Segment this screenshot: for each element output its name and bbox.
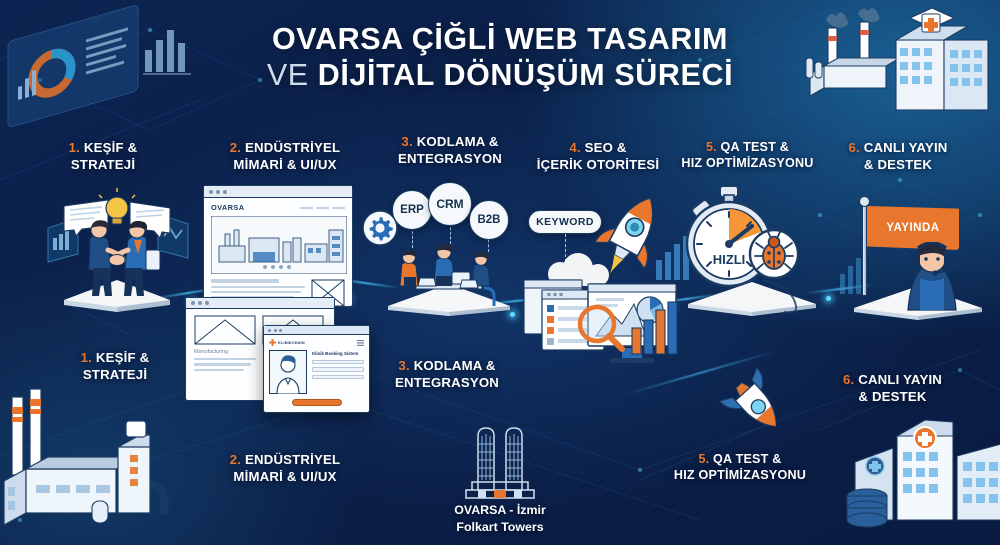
hamburger-menu-icon[interactable] [357,340,364,346]
step-text-line1: QA TEST & [721,140,790,154]
step-number: 3. [398,358,409,373]
doctor-avatar-icon [269,350,307,394]
step-text-line1: ENDÜSTRİYEL [245,452,340,467]
badge-keyword: KEYWORD [528,210,602,234]
infographic-canvas: OVARSA ÇİĞLİ WEB TASARIM VE DİJİTAL DÖNÜ… [0,0,1000,545]
hero-factory-illustration [211,216,347,274]
clinic-dot-2 [274,329,277,332]
step-text-line2: HIZ OPTİMİZASYONU [674,468,806,482]
badge-b2b: B2B [469,200,509,240]
title-conjunction: VE [267,58,309,92]
wireframe-dot-1 [191,301,195,305]
background-city-bottomright [845,400,1000,545]
clinic-logo-label: KLINIKCHAIN [278,341,305,345]
wireframe-box-left [194,315,256,345]
mockup-clinic-booking: KLINIKCHAIN Klinik Booking [263,325,370,413]
location-line-2: Folkart Towers [420,519,580,536]
bug-icon [748,228,800,280]
cable-decoration [760,278,830,314]
folkart-towers-icon [448,420,553,500]
step-text-line1: KEŞİF & [96,350,149,365]
rocket-icon-secondary [712,368,798,438]
clinic-title-label: Klinik Booking Sistem [312,351,364,357]
step-number: 3. [401,134,412,149]
location-line-1: OVARSA - İzmir [420,502,580,519]
stopwatch-label: HIZLI [713,252,746,267]
step-text-line2: İÇERİK OTORİTESİ [537,157,659,172]
step-number: 4. [569,140,580,155]
analytics-monitor [522,276,687,370]
clinic-dot-1 [268,329,271,332]
browser-dot-1 [209,190,213,194]
support-agent-icon [890,242,974,312]
title-line-2-main: DİJİTAL DÖNÜŞÜM SÜRECİ [318,58,733,92]
clinic-dot-3 [279,329,282,332]
step-text-line2: MİMARİ & UI/UX [233,469,336,484]
scene-step-2-wireframes: OVARSA [185,185,370,415]
step-number: 5. [706,140,717,154]
step-text-line1: QA TEST & [713,452,782,466]
badge-erp: ERP [392,190,432,230]
location-caption: OVARSA - İzmir Folkart Towers [420,502,580,535]
scene-step-6-launch: YAYINDA [838,186,998,321]
step-text-line2: ENTEGRASYON [395,375,499,390]
step-label-top-3: 3. KODLAMA & ENTEGRASYON [375,134,525,167]
title-line-1: OVARSA ÇİĞLİ WEB TASARIM [0,22,1000,58]
step-label-top-2: 2. ENDÜSTRİYEL MİMARİ & UI/UX [205,140,365,173]
step-number: 1. [69,140,80,155]
step-text-line2: & DESTEK [864,157,932,172]
scene-step-1-handshake [42,188,192,313]
step-text-line1: KEŞİF & [84,140,137,155]
step-number: 1. [81,350,92,365]
wireframe-titlebar [186,298,334,309]
step-label-bottom-5: 5. QA TEST & HIZ OPTİMİZASYONU [655,452,825,483]
step-text-line2: & DESTEK [858,389,926,404]
bar-chart-decoration [838,248,868,294]
gear-icon [362,210,398,246]
step-text-line2: HIZ OPTİMİZASYONU [681,156,813,170]
scene-step-5-qa: HIZLI [672,186,832,316]
medical-cross-icon [269,339,276,346]
wireframe-dot-3 [205,301,209,305]
step-number: 5. [698,452,709,466]
browser-titlebar [204,186,352,198]
scene-step-3-development: ERP CRM B2B [362,182,527,317]
browser-dot-3 [223,190,227,194]
step-label-top-5: 5. QA TEST & HIZ OPTİMİZASYONU [665,140,830,171]
step-number: 6. [848,140,859,155]
step-text-line1: ENDÜSTRİYEL [245,140,340,155]
step-text-line1: CANLI YAYIN [858,372,942,387]
step-text-line1: KODLAMA & [417,134,499,149]
step-label-bottom-3: 3. KODLAMA & ENTEGRASYON [372,358,522,391]
step-label-top-1: 1. KEŞİF & STRATEJİ [38,140,168,173]
clinic-cta-button[interactable] [292,399,342,406]
step-label-top-4: 4. SEO & İÇERİK OTORİTESİ [518,140,678,173]
background-factory-bottomleft [0,385,175,545]
step-text-line1: CANLI YAYIN [864,140,948,155]
clinic-titlebar [264,326,369,335]
step-number: 2. [230,140,241,155]
step-text-line1: SEO & [585,140,627,155]
scene-step-4-seo: KEYWORD [518,190,693,370]
browser-mockup-ovarsa: OVARSA [203,185,353,307]
page-title: OVARSA ÇİĞLİ WEB TASARIM VE DİJİTAL DÖNÜ… [0,22,1000,94]
step-text-line1: KODLAMA & [414,358,496,373]
step-number: 6. [843,372,854,387]
step-label-bottom-2: 2. ENDÜSTRİYEL MİMARİ & UI/UX [205,452,365,485]
flag-pole-top [859,196,870,207]
step-text-line2: STRATEJİ [71,157,135,172]
wireframe-dot-2 [198,301,202,305]
step-text-line2: MİMARİ & UI/UX [233,157,336,172]
step-label-top-6: 6. CANLI YAYIN & DESTEK [828,140,968,173]
step-label-bottom-1: 1. KEŞİF & STRATEJİ [55,350,175,383]
browser-brand-label: OVARSA [211,203,244,212]
step-text-line2: STRATEJİ [83,367,147,382]
step-label-bottom-6: 6. CANLI YAYIN & DESTEK [820,372,965,405]
browser-dot-2 [216,190,220,194]
step3-platform [378,244,520,316]
title-line-2: VE DİJİTAL DÖNÜŞÜM SÜRECİ [0,58,1000,94]
badge-crm: CRM [428,182,472,226]
step-number: 2. [230,452,241,467]
step-text-line2: ENTEGRASYON [398,151,502,166]
browser-nav-links [300,207,345,209]
